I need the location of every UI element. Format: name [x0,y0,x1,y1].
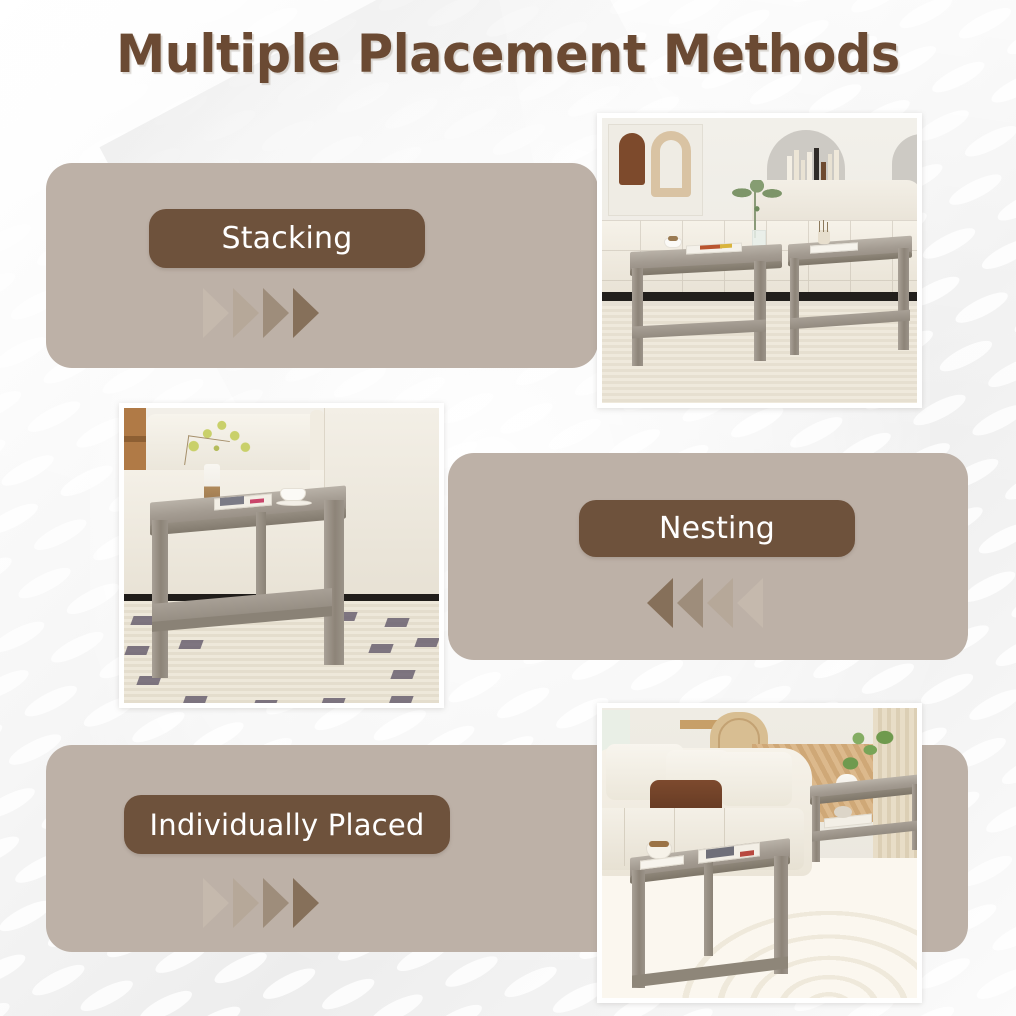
chevron-left-icon [737,578,763,628]
stacking-scene [602,118,917,403]
chevron-right-icon [203,878,229,928]
arrows-individually-placed [203,878,319,928]
individually-placed-scene [602,708,917,998]
rug-dash [388,696,413,703]
label-individually-placed[interactable]: Individually Placed [124,795,450,854]
rug-dash [384,618,409,627]
chevron-left-icon [707,578,733,628]
label-nesting[interactable]: Nesting [579,500,855,557]
individually-placed-photo [597,703,922,1003]
infographic-stage: Multiple Placement Methods [0,0,1016,1016]
page-title: Multiple Placement Methods [36,24,981,85]
label-stacking[interactable]: Stacking [149,209,425,268]
nesting-photo [119,403,444,708]
rug-dash [252,700,277,703]
nesting-scene [124,408,439,703]
arrows-nesting [647,578,763,628]
chevron-right-icon [203,288,229,338]
rug-dash [368,644,393,653]
stacking-photo [597,113,922,408]
chevron-left-icon [677,578,703,628]
chevron-right-icon [263,288,289,338]
chevron-right-icon [293,878,319,928]
rug-dash [178,640,203,649]
rug-dash [124,646,149,655]
chevron-right-icon [293,288,319,338]
rug-dash [320,698,345,703]
rug-dash [182,696,207,703]
rug-dash [414,638,439,647]
arrows-stacking [203,288,319,338]
chevron-right-icon [263,878,289,928]
chevron-left-icon [647,578,673,628]
chevron-right-icon [233,288,259,338]
rug-dash [390,670,415,679]
chevron-right-icon [233,878,259,928]
